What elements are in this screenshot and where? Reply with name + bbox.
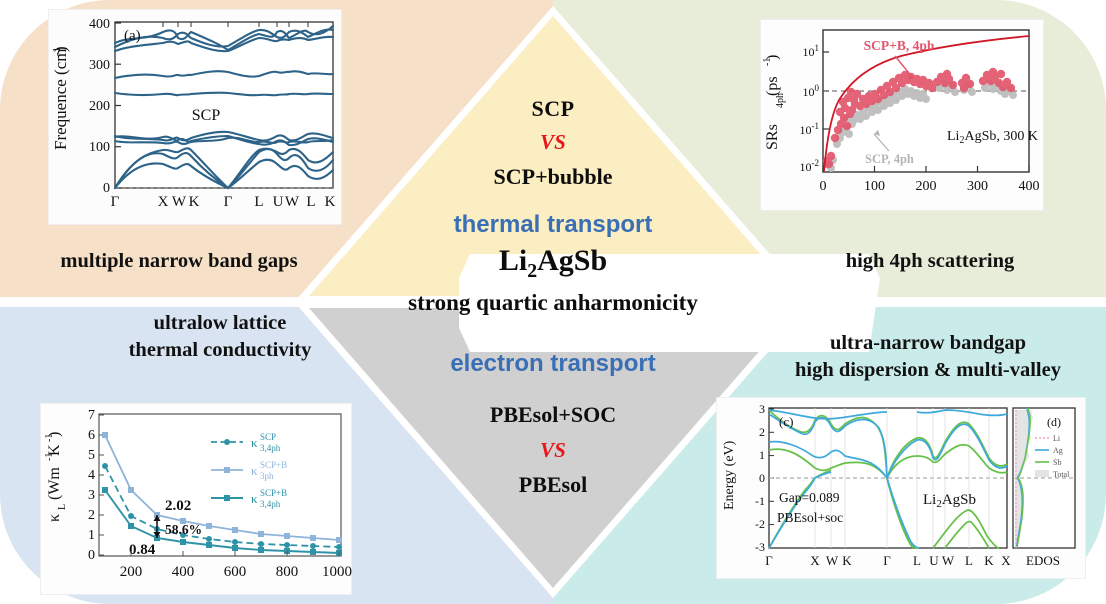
svg-text:SCP+B, 4ph: SCP+B, 4ph — [864, 38, 935, 53]
svg-text:κ: κ — [251, 435, 258, 450]
svg-text:κ: κ — [251, 491, 258, 506]
svg-text:U: U — [273, 194, 284, 210]
svg-text:Γ: Γ — [765, 553, 773, 568]
svg-text:0: 0 — [103, 181, 110, 196]
svg-text:Energy (eV): Energy (eV) — [722, 440, 737, 510]
center-vs-upper: VS — [540, 130, 566, 155]
svg-text:3,4ph: 3,4ph — [260, 443, 281, 453]
compound-formula: Li2AgSb — [499, 244, 607, 283]
svg-text:W: W — [826, 553, 839, 568]
figure-phonon-dispersion: Frequence (cm -1 ) 400 300 200 100 0 — [49, 10, 341, 224]
svg-text:Γ: Γ — [883, 553, 891, 568]
svg-text:Li: Li — [1053, 434, 1061, 443]
svg-text:EDOS: EDOS — [1026, 553, 1060, 568]
pbesol-soc-label: PBEsol+SOC — [490, 402, 616, 428]
caption-bottom-left-line2: thermal conductivity — [70, 337, 370, 364]
svg-text:3,4ph: 3,4ph — [260, 499, 281, 509]
formula-sub: 2 — [527, 260, 537, 282]
svg-text:7: 7 — [88, 408, 95, 423]
svg-text:Γ: Γ — [111, 194, 120, 210]
svg-text:-1: -1 — [755, 494, 765, 508]
svg-text:K: K — [842, 553, 852, 568]
svg-text:): ) — [764, 55, 781, 60]
center-scp-label: SCP — [531, 96, 574, 122]
svg-text:X: X — [1001, 553, 1011, 568]
svg-text:L: L — [254, 194, 263, 210]
svg-text:6: 6 — [88, 428, 95, 443]
svg-text:Ag: Ag — [1053, 446, 1063, 455]
caption-bottom-left-line1: ultralow lattice — [70, 310, 370, 337]
svg-text:200: 200 — [120, 564, 143, 580]
svg-text:400: 400 — [1019, 179, 1040, 194]
svg-text:L: L — [306, 194, 315, 210]
svg-text:1: 1 — [88, 528, 95, 543]
svg-text:): ) — [46, 432, 63, 437]
svg-text:2.02: 2.02 — [165, 498, 191, 514]
svg-text:0: 0 — [820, 179, 827, 194]
center-vs-lower: VS — [540, 438, 566, 463]
svg-text:(c): (c) — [779, 414, 793, 429]
caption-bottom-left: ultralow lattice thermal conductivity — [70, 310, 370, 364]
svg-text:-3: -3 — [755, 540, 765, 554]
svg-text:L: L — [57, 504, 68, 510]
svg-text:1000: 1000 — [322, 564, 352, 580]
svg-text:SRs: SRs — [764, 124, 781, 150]
svg-text:2: 2 — [88, 508, 95, 523]
caption-bottom-right: ultra-narrow bandgap high dispersion & m… — [760, 330, 1096, 384]
svg-text:2: 2 — [759, 425, 765, 439]
svg-text:SCP+B: SCP+B — [260, 488, 287, 498]
svg-text:(ps: (ps — [764, 76, 781, 96]
svg-text:(d): (d) — [1047, 415, 1061, 429]
svg-text:200: 200 — [89, 99, 110, 114]
svg-text:Frequence (cm: Frequence (cm — [51, 49, 70, 150]
svg-text:0: 0 — [759, 471, 765, 485]
caption-top-right: high 4ph scattering — [770, 248, 1090, 275]
center-scp-bubble-label: SCP+bubble — [494, 164, 613, 190]
svg-text:SCP, 4ph: SCP, 4ph — [865, 152, 914, 166]
caption-top-left: multiple narrow band gaps — [14, 248, 344, 275]
svg-text:L: L — [913, 553, 921, 568]
svg-text:W: W — [285, 194, 300, 210]
svg-text:0: 0 — [88, 548, 95, 563]
svg-text:κ: κ — [251, 463, 258, 478]
svg-text:58.6%: 58.6% — [165, 522, 202, 537]
svg-text:): ) — [51, 46, 70, 52]
svg-text:K: K — [984, 553, 994, 568]
svg-text:Gap=0.089: Gap=0.089 — [779, 490, 840, 505]
svg-text:PBEsol+soc: PBEsol+soc — [777, 510, 843, 525]
svg-text:300: 300 — [89, 58, 110, 73]
svg-text:SCP: SCP — [260, 432, 276, 442]
svg-text:3ph: 3ph — [260, 471, 274, 481]
pbesol-label: PBEsol — [519, 472, 587, 498]
caption-bottom-right-line2: high dispersion & multi-valley — [760, 357, 1096, 384]
svg-text:0.84: 0.84 — [129, 542, 156, 558]
svg-text:3: 3 — [88, 488, 95, 503]
svg-text:200: 200 — [916, 179, 937, 194]
svg-text:100: 100 — [89, 140, 110, 155]
svg-text:Total: Total — [1053, 470, 1070, 479]
graphical-abstract: SCP VS SCP+bubble thermal transport Li2A… — [0, 0, 1106, 604]
formula-post: AgSb — [537, 244, 607, 277]
svg-text:L: L — [965, 553, 973, 568]
svg-text:K: K — [189, 194, 200, 210]
caption-bottom-right-line1: ultra-narrow bandgap — [760, 330, 1096, 357]
svg-text:Li2AgSb: Li2AgSb — [923, 492, 976, 510]
svg-text:(Wm: (Wm — [46, 467, 63, 500]
svg-text:SCP: SCP — [192, 107, 221, 124]
electron-transport-label: electron transport — [450, 350, 655, 378]
svg-text:1: 1 — [759, 448, 765, 462]
figure-lattice-thermal-conductivity: κ L (Wm -1 K -1 ) 765 432 10 — [41, 404, 351, 594]
svg-text:Γ: Γ — [224, 194, 233, 210]
svg-text:Sb: Sb — [1053, 458, 1061, 467]
svg-text:300: 300 — [967, 179, 988, 194]
formula-pre: Li — [499, 244, 527, 277]
svg-text:600: 600 — [224, 564, 247, 580]
figure-electronic-bands: Energy (eV) 321 0-1-2 -3 — [717, 398, 1085, 578]
svg-text:W: W — [172, 194, 187, 210]
svg-text:-2: -2 — [755, 517, 765, 531]
svg-text:K: K — [325, 194, 336, 210]
svg-text:4: 4 — [88, 468, 95, 483]
svg-text:3: 3 — [759, 402, 765, 416]
svg-text:(a): (a) — [124, 28, 141, 44]
svg-text:X: X — [810, 553, 820, 568]
svg-text:400: 400 — [172, 564, 195, 580]
thermal-transport-label: thermal transport — [454, 211, 653, 239]
svg-text:U: U — [929, 553, 939, 568]
svg-text:K: K — [46, 444, 63, 456]
anharmonicity-label: strong quartic anharmonicity — [408, 290, 698, 316]
svg-text:X: X — [158, 194, 169, 210]
svg-text:W: W — [942, 553, 955, 568]
figure-scattering-rates: SRs 4ph (ps -1 ) 101 100 10-1 10-2 — [761, 20, 1043, 210]
svg-text:κ: κ — [46, 514, 63, 522]
svg-text:SCP+B: SCP+B — [260, 460, 287, 470]
svg-text:5: 5 — [88, 448, 95, 463]
svg-text:400: 400 — [89, 17, 110, 32]
svg-text:800: 800 — [276, 564, 299, 580]
svg-text:100: 100 — [864, 179, 885, 194]
